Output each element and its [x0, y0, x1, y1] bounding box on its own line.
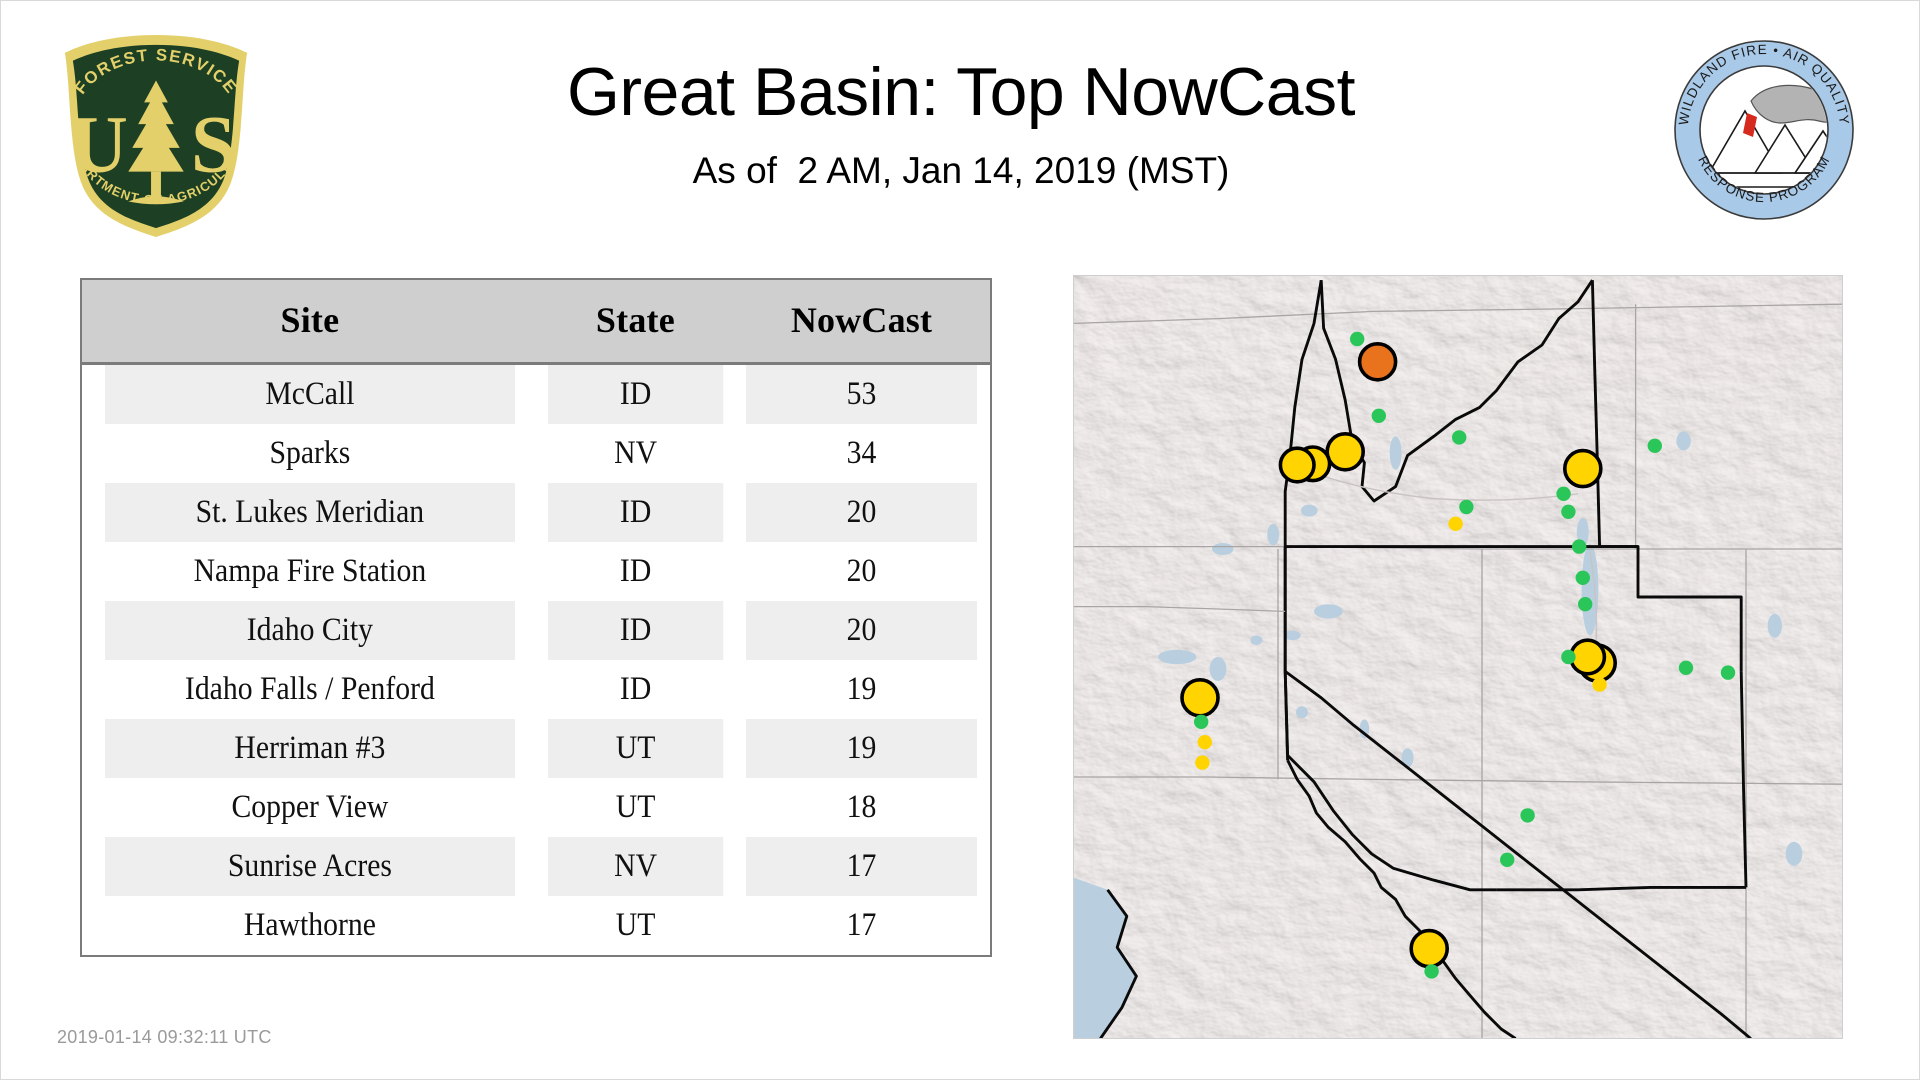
aqi-monitor-marker[interactable]	[1561, 650, 1575, 664]
top-nowcast-table-panel: Site State NowCast McCallID53SparksNV34S…	[80, 278, 992, 957]
table-row: Idaho Falls / PenfordID19	[82, 660, 990, 719]
cell-site: Sunrise Acres	[105, 837, 515, 896]
cell-nowcast: 53	[746, 364, 977, 425]
cell-site: Nampa Fire Station	[105, 542, 515, 601]
cell-nowcast: 17	[746, 837, 977, 896]
table-row: Sunrise AcresNV17	[82, 837, 990, 896]
aqi-monitor-marker[interactable]	[1572, 539, 1586, 553]
aqi-monitor-marker[interactable]	[1194, 715, 1208, 729]
table-row: St. Lukes MeridianID20	[82, 483, 990, 542]
table-row: Copper ViewUT18	[82, 778, 990, 837]
table-row: SparksNV34	[82, 424, 990, 483]
aqi-monitor-marker[interactable]	[1459, 500, 1473, 514]
aqi-monitor-marker[interactable]: Hawthorne	[1411, 931, 1447, 967]
table-row: McCallID53	[82, 364, 990, 425]
slide-canvas: U S FOREST SERVICE DEPARTMENT OF AGRICUL…	[0, 0, 1920, 1080]
aqi-monitor-marker[interactable]	[1424, 964, 1438, 978]
title-block: Great Basin: Top NowCast As of 2 AM, Jan…	[301, 56, 1621, 192]
cell-site: Idaho City	[105, 601, 515, 660]
great-basin-aqi-map[interactable]: McCallIdaho CitySt. Lukes MeridianNampa …	[1073, 275, 1843, 1039]
generation-timestamp: 2019-01-14 09:32:11 UTC	[57, 1027, 272, 1048]
cell-site: Herriman #3	[105, 719, 515, 778]
aqi-monitor-marker[interactable]	[1452, 430, 1466, 444]
aqi-monitor-marker[interactable]: Nampa Fire Station	[1280, 448, 1314, 482]
cell-nowcast: 19	[746, 719, 977, 778]
aqi-monitor-marker[interactable]	[1198, 735, 1212, 749]
aqi-monitor-marker[interactable]: Idaho Falls / Penford	[1565, 451, 1601, 487]
aqi-monitor-marker[interactable]	[1648, 439, 1662, 453]
map-basemap	[1074, 276, 1842, 1038]
page-title: Great Basin: Top NowCast	[301, 56, 1621, 128]
cell-nowcast: 18	[746, 778, 977, 837]
aqi-monitor-marker[interactable]	[1721, 665, 1735, 679]
aqi-monitor-marker[interactable]	[1679, 661, 1693, 675]
cell-site: McCall	[105, 364, 515, 425]
cell-site: Sparks	[105, 424, 515, 483]
cell-state: ID	[548, 660, 724, 719]
cell-nowcast: 20	[746, 601, 977, 660]
cell-state: ID	[548, 364, 724, 425]
column-header-state: State	[538, 280, 733, 364]
table-row: HawthorneUT17	[82, 896, 990, 955]
aqi-monitor-marker[interactable]	[1500, 853, 1514, 867]
cell-site: Hawthorne	[105, 896, 515, 955]
aqi-monitor-marker[interactable]: McCall	[1360, 344, 1396, 380]
column-header-nowcast: NowCast	[733, 280, 990, 364]
cell-state: ID	[548, 483, 724, 542]
aqi-monitor-marker[interactable]	[1195, 755, 1209, 769]
cell-state: ID	[548, 542, 724, 601]
usfs-shield-logo: U S FOREST SERVICE DEPARTMENT OF AGRICUL…	[57, 31, 255, 241]
cell-site: St. Lukes Meridian	[105, 483, 515, 542]
wfaqrp-seal-logo: WILDLAND FIRE • AIR QUALITY RESPONSE PRO…	[1673, 39, 1855, 221]
table-header-row: Site State NowCast	[82, 280, 990, 364]
aqi-monitor-marker[interactable]	[1592, 677, 1606, 691]
cell-site: Idaho Falls / Penford	[105, 660, 515, 719]
cell-state: UT	[548, 896, 724, 955]
table-row: Herriman #3UT19	[82, 719, 990, 778]
table-body: McCallID53SparksNV34St. Lukes MeridianID…	[82, 364, 990, 956]
aqi-monitor-marker[interactable]	[1448, 517, 1462, 531]
aqi-monitor-marker[interactable]	[1556, 487, 1570, 501]
top-nowcast-table: Site State NowCast McCallID53SparksNV34S…	[82, 280, 990, 955]
table-row: Nampa Fire StationID20	[82, 542, 990, 601]
column-header-site: Site	[82, 280, 538, 364]
cell-site: Copper View	[105, 778, 515, 837]
cell-state: NV	[548, 837, 724, 896]
cell-nowcast: 17	[746, 896, 977, 955]
aqi-monitor-marker[interactable]	[1576, 571, 1590, 585]
aqi-monitor-marker[interactable]	[1350, 332, 1364, 346]
aqi-monitor-marker[interactable]: Idaho City	[1327, 434, 1363, 470]
aqi-monitor-marker[interactable]: Sparks	[1182, 680, 1218, 716]
aqi-monitor-marker[interactable]	[1561, 505, 1575, 519]
aqi-monitor-marker[interactable]	[1520, 808, 1534, 822]
cell-nowcast: 20	[746, 483, 977, 542]
page-subtitle: As of 2 AM, Jan 14, 2019 (MST)	[301, 150, 1621, 192]
table-row: Idaho CityID20	[82, 601, 990, 660]
aqi-monitor-marker[interactable]	[1372, 409, 1386, 423]
cell-state: ID	[548, 601, 724, 660]
cell-nowcast: 34	[746, 424, 977, 483]
cell-state: UT	[548, 719, 724, 778]
aqi-monitor-marker[interactable]: Copper View	[1571, 640, 1605, 674]
cell-nowcast: 20	[746, 542, 977, 601]
cell-nowcast: 19	[746, 660, 977, 719]
aqi-monitor-marker[interactable]	[1578, 597, 1592, 611]
cell-state: UT	[548, 778, 724, 837]
cell-state: NV	[548, 424, 724, 483]
